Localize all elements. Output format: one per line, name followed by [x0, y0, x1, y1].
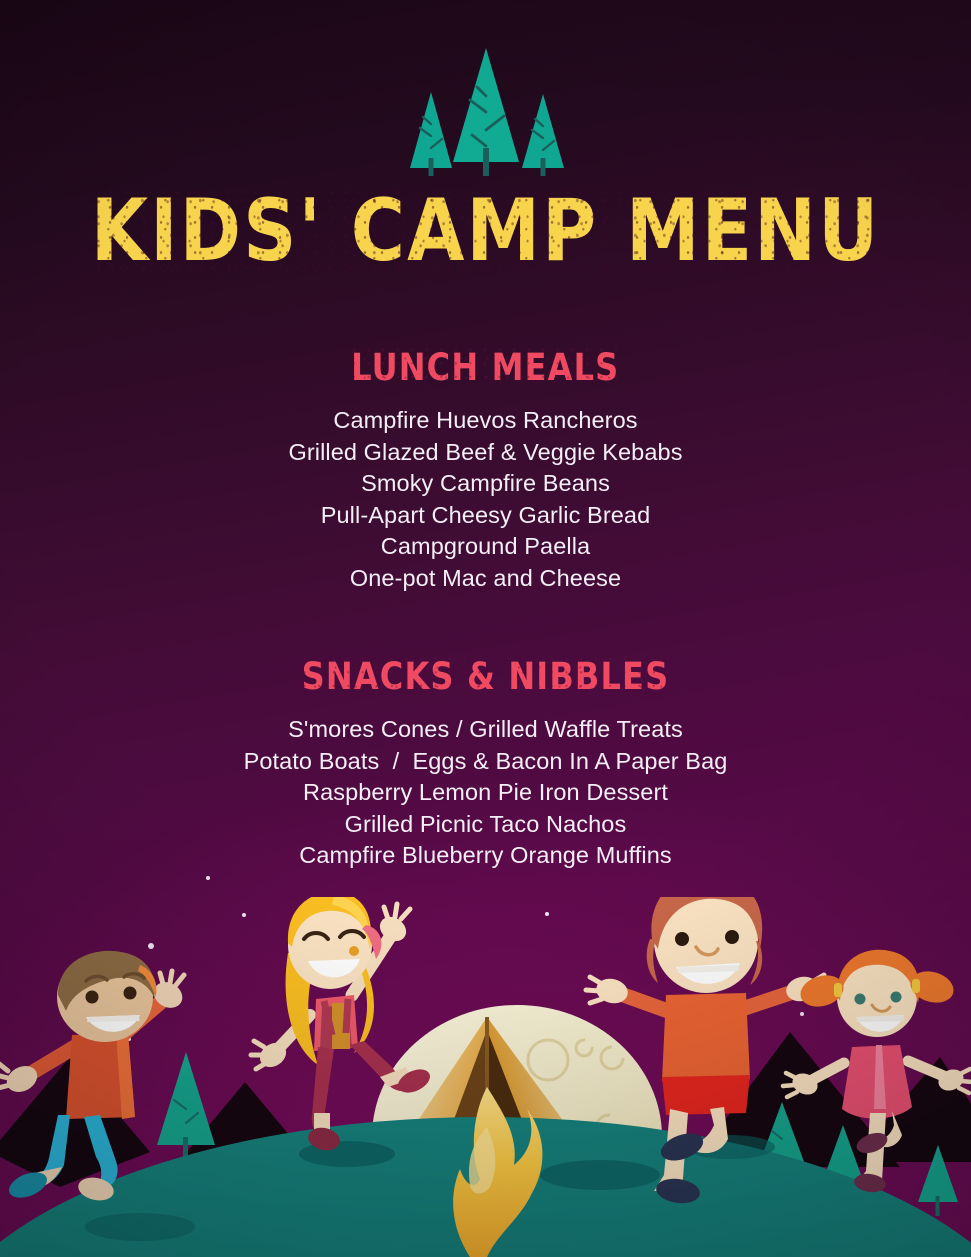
menu-list-snacks: S'mores Cones / Grilled Waffle Treats Po…	[0, 714, 971, 872]
shadow	[540, 1160, 660, 1190]
title-block: KIDS' CAMP MENU	[0, 188, 971, 262]
menu-item: Raspberry Lemon Pie Iron Dessert	[0, 777, 971, 809]
menu-item: Grilled Glazed Beef & Veggie Kebabs	[0, 437, 971, 469]
menu-item: Grilled Picnic Taco Nachos	[0, 809, 971, 841]
pine-tree-left	[410, 92, 452, 176]
campsite-scene	[0, 897, 971, 1257]
section-lunch: LUNCH MEALS Campfire Huevos Rancheros Gr…	[0, 345, 971, 595]
menu-item: Campfire Huevos Rancheros	[0, 405, 971, 437]
poster-canvas: KIDS' CAMP MENU LUNCH MEALS Campfire Hue…	[0, 0, 971, 1257]
menu-item: Campfire Blueberry Orange Muffins	[0, 840, 971, 872]
section-heading-snacks: SNACKS & NIBBLES	[302, 654, 670, 698]
shadow	[85, 1213, 195, 1241]
menu-item: Pull-Apart Cheesy Garlic Bread	[0, 500, 971, 532]
pine-trees-decoration	[398, 40, 574, 176]
section-heading-lunch: LUNCH MEALS	[351, 345, 619, 389]
menu-item: Campground Paella	[0, 531, 971, 563]
star	[206, 876, 210, 880]
menu-item: Smoky Campfire Beans	[0, 468, 971, 500]
pine-tree-center	[453, 48, 519, 176]
menu-item: One-pot Mac and Cheese	[0, 563, 971, 595]
page-title: KIDS' CAMP MENU	[91, 188, 880, 274]
section-snacks: SNACKS & NIBBLES S'mores Cones / Grilled…	[0, 654, 971, 872]
menu-item: Potato Boats / Eggs & Bacon In A Paper B…	[0, 746, 971, 778]
menu-list-lunch: Campfire Huevos Rancheros Grilled Glazed…	[0, 405, 971, 595]
menu-item: S'mores Cones / Grilled Waffle Treats	[0, 714, 971, 746]
pine-tree-right	[522, 94, 564, 176]
